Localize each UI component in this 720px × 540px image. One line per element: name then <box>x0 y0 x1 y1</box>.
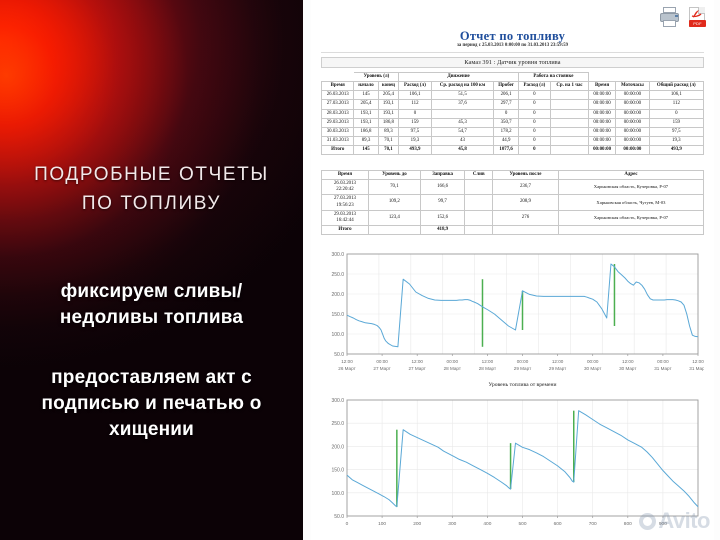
table-cell: 0 <box>518 127 550 136</box>
promo-bullet-1-line-2: недоливы топлива <box>0 305 303 331</box>
x-axis-tick-label-date: 31 Март <box>689 366 704 371</box>
promo-bullet-1-line-1: фиксируем сливы/ <box>0 279 303 305</box>
column-header-row: ВремяначалоконецРасход (л)Ср. расход на … <box>322 82 704 91</box>
table-total-row: Итого418,9 <box>322 225 704 234</box>
table-cell <box>465 180 493 195</box>
title-divider <box>321 52 704 53</box>
table-cell: 350,7 <box>494 118 518 127</box>
x-axis-tick-label: 100 <box>378 521 386 527</box>
table-cell: 112 <box>649 100 703 109</box>
chart-canvas: 50.0100.0150.0200.0250.0300.012:0026 Мар… <box>321 248 704 388</box>
table-cell: 109,2 <box>368 195 420 210</box>
y-axis-tick-label: 100.0 <box>331 332 344 338</box>
x-axis-tick-label-time: 12:00 <box>622 359 634 364</box>
table-total-cell: 1077,6 <box>494 146 518 155</box>
column-header-cell: Ср. расход на 100 км <box>431 82 494 91</box>
table-cell: 37,6 <box>431 100 494 109</box>
y-axis-tick-label: 100.0 <box>331 491 344 497</box>
table-total-cell <box>558 225 703 234</box>
table-cell: 0 <box>518 100 550 109</box>
table-cell: 236,7 <box>493 180 559 195</box>
refuel-events-table: ВремяУровень доЗаправкаСливУровень после… <box>321 170 704 235</box>
x-axis-tick-label-time: 00:00 <box>447 359 459 364</box>
table-row: 27.03.2013205,4193,111237,6297,7000:00:0… <box>322 100 704 109</box>
promo-bullet-2-line-3: хищении <box>0 417 303 443</box>
y-axis-tick-label: 150.0 <box>331 312 344 318</box>
table-cell: 70,1 <box>378 136 399 145</box>
x-axis-tick-label-date: 26 Март <box>338 366 356 371</box>
x-axis-tick-label-time: 12:00 <box>482 359 494 364</box>
report-page: PDF Отчет по топливу за период с 25.03.2… <box>311 0 714 540</box>
table-cell: 0 <box>518 118 550 127</box>
table-cell: 97,5 <box>649 127 703 136</box>
group-header-cell: Уровень (л) <box>354 73 399 82</box>
x-axis-tick-label-date: 28 Март <box>444 366 462 371</box>
x-axis-tick-label: 400 <box>483 521 491 527</box>
x-axis-tick-label: 700 <box>589 521 597 527</box>
table-cell: 205,4 <box>378 91 399 100</box>
table-total-cell: 0 <box>518 146 550 155</box>
table-row: 29.03.201316:42:44123,4152,6276Харьковск… <box>322 210 704 225</box>
report-document-panel: PDF Отчет по топливу за период с 25.03.2… <box>303 0 720 540</box>
table-cell <box>551 118 589 127</box>
table-cell: 276 <box>493 210 559 225</box>
table-total-cell: 00:00:00 <box>616 146 649 155</box>
column-header-cell: Время <box>588 82 615 91</box>
table-total-cell: 493,9 <box>649 146 703 155</box>
table-cell: 54,7 <box>431 127 494 136</box>
table-cell: 00:00:00 <box>616 127 649 136</box>
table-cell: 00:00:00 <box>588 127 615 136</box>
group-header-row: Уровень (л)ДвижениеРабота на стоянке <box>322 73 704 82</box>
table-cell: 186,8 <box>354 127 378 136</box>
x-axis-tick-label-date: 29 Март <box>514 366 532 371</box>
table-cell: 0 <box>518 109 550 118</box>
y-axis-tick-label: 50.0 <box>334 352 344 358</box>
table-total-cell <box>368 225 420 234</box>
promo-headline-line-2: ПО ТОПЛИВУ <box>0 189 303 218</box>
column-header-cell: Моточасы <box>616 82 649 91</box>
column-header-cell: Уровень до <box>368 171 420 180</box>
daily-fuel-table: Уровень (л)ДвижениеРабота на стоянке Вре… <box>321 72 704 155</box>
table-cell: 297,7 <box>494 100 518 109</box>
table-cell <box>551 100 589 109</box>
table-cell <box>551 91 589 100</box>
table-cell: 159 <box>649 118 703 127</box>
column-header-cell: Общий расход (л) <box>649 82 703 91</box>
column-header-cell: Время <box>322 82 354 91</box>
table-cell: 89,3 <box>354 136 378 145</box>
table-cell: 00:00:00 <box>588 100 615 109</box>
table-cell: 178,2 <box>494 127 518 136</box>
x-axis-tick-label: 200 <box>413 521 421 527</box>
fuel-level-smoothed-chart: 50.0100.0150.0200.0250.0300.001002003004… <box>321 394 704 534</box>
table-total-cell <box>551 146 589 155</box>
pdf-badge-label: PDF <box>689 20 706 27</box>
x-axis-tick-label-time: 12:00 <box>552 359 564 364</box>
table-row: 29.03.2013193,1186,815945,3350,7000:00:0… <box>322 118 704 127</box>
page-title: Отчет по топливу <box>311 29 714 44</box>
table-cell: 00:00:00 <box>588 136 615 145</box>
table-cell: 00:00:00 <box>616 136 649 145</box>
column-header-cell: начало <box>354 82 378 91</box>
table-cell: 43 <box>431 136 494 145</box>
group-header-cell: Движение <box>399 73 518 82</box>
table-cell: 44,9 <box>494 136 518 145</box>
x-axis-tick-label-time: 12:00 <box>692 359 704 364</box>
table-cell: 106,1 <box>399 91 431 100</box>
promo-bullet-2-line-2: подписью и печатью о <box>0 391 303 417</box>
table-cell <box>431 109 494 118</box>
table-cell: 00:00:00 <box>616 118 649 127</box>
printer-icon[interactable] <box>659 6 680 28</box>
x-axis-tick-label-date: 27 Март <box>373 366 391 371</box>
table-cell: 186,8 <box>378 118 399 127</box>
x-axis-tick-label-time: 00:00 <box>587 359 599 364</box>
table-total-cell: 00:00:00 <box>588 146 615 155</box>
table-cell: 30.03.2013 <box>322 127 354 136</box>
daily-fuel-table-body: 26.03.2013145205,4106,151,5206,1000:00:0… <box>322 91 704 155</box>
table-cell: 145 <box>354 91 378 100</box>
table-cell: Харьковская область, Кучеровка, Р-07 <box>558 210 703 225</box>
table-total-row: Итого14570,1493,945,81077,6000:00:0000:0… <box>322 146 704 155</box>
y-axis-tick-label: 150.0 <box>331 468 344 474</box>
table-cell: 166,6 <box>420 180 465 195</box>
y-axis-tick-label: 250.0 <box>331 272 344 278</box>
x-axis-tick-label-date: 28 Март <box>479 366 497 371</box>
table-cell: 112 <box>399 100 431 109</box>
column-header-cell: Слив <box>465 171 493 180</box>
table-cell: 193,1 <box>354 109 378 118</box>
table-row: 31.03.201389,370,119,34344,9000:00:0000:… <box>322 136 704 145</box>
fuel-level-vs-time-chart: 50.0100.0150.0200.0250.0300.012:0026 Мар… <box>321 248 704 388</box>
event-time: 19:56:23 <box>323 203 367 209</box>
table-cell: 00:00:00 <box>588 118 615 127</box>
x-axis-tick-label-date: 30 Март <box>619 366 637 371</box>
table-row: 27.03.201319:56:23109,299,7208,9Харьковс… <box>322 195 704 210</box>
table-total-cell <box>465 225 493 234</box>
y-axis-tick-label: 300.0 <box>331 398 344 404</box>
table-cell: 26.03.201322:20:42 <box>322 180 369 195</box>
table-cell: 19,3 <box>649 136 703 145</box>
x-axis-tick-label-date: 27 Март <box>409 366 427 371</box>
report-period-subtitle: за период с 25.03.2013 0:00:00 по 31.03.… <box>311 43 714 48</box>
table-cell: 193,1 <box>378 109 399 118</box>
x-axis-tick-label-time: 12:00 <box>411 359 423 364</box>
table-cell: 00:00:00 <box>616 109 649 118</box>
promo-texture-overlay <box>0 0 303 540</box>
table-cell: 152,6 <box>420 210 465 225</box>
event-time: 16:42:44 <box>323 218 367 224</box>
column-header-cell: Адрес <box>558 171 703 180</box>
table-cell: 00:00:00 <box>616 100 649 109</box>
group-header-spacer <box>649 73 703 82</box>
table-cell: 0 <box>494 109 518 118</box>
x-axis-tick-label-date: 30 Март <box>584 366 602 371</box>
table-cell: 97,5 <box>399 127 431 136</box>
x-axis-tick-label: 300 <box>448 521 456 527</box>
x-axis-tick-label-time: 00:00 <box>376 359 388 364</box>
y-axis-tick-label: 50.0 <box>334 514 344 520</box>
table-total-cell: 418,9 <box>420 225 465 234</box>
pdf-swoosh-glyph <box>691 9 702 20</box>
device-header-band: Камаз 391 : Датчик уровня топлива <box>321 57 704 68</box>
promo-headline-line-1: ПОДРОБНЫЕ ОТЧЕТЫ <box>0 160 303 189</box>
table-cell <box>465 210 493 225</box>
table-total-cell: Итого <box>322 225 369 234</box>
group-header-spacer <box>588 73 615 82</box>
table-total-cell: 493,9 <box>399 146 431 155</box>
promo-bullet-1: фиксируем сливы/ недоливы топлива <box>0 279 303 331</box>
pdf-icon[interactable]: PDF <box>687 6 708 28</box>
table-cell: 27.03.201319:56:23 <box>322 195 369 210</box>
table-cell: 00:00:00 <box>588 109 615 118</box>
table-cell: 29.03.2013 <box>322 118 354 127</box>
column-header-cell: Расход (л) <box>518 82 550 91</box>
table-total-cell: 70,1 <box>378 146 399 155</box>
table-cell: 26.03.2013 <box>322 91 354 100</box>
table-cell: 70,1 <box>368 180 420 195</box>
x-axis-tick-label-date: 31 Март <box>654 366 672 371</box>
group-header-cell: Работа на стоянке <box>518 73 588 82</box>
y-axis-tick-label: 200.0 <box>331 444 344 450</box>
x-axis-tick-label: 800 <box>624 521 632 527</box>
table-total-cell: Итого <box>322 146 354 155</box>
promo-headline: ПОДРОБНЫЕ ОТЧЕТЫ ПО ТОПЛИВУ <box>0 160 303 218</box>
x-axis-title: Уровень топлива от времени <box>489 382 557 388</box>
table-cell: 193,1 <box>354 118 378 127</box>
table-cell: 0 <box>518 91 550 100</box>
table-row: 26.03.201322:20:4270,1166,6236,7Харьковс… <box>322 180 704 195</box>
chart-canvas: 50.0100.0150.0200.0250.0300.001002003004… <box>321 394 704 534</box>
table-cell: 0 <box>518 136 550 145</box>
table-total-cell: 145 <box>354 146 378 155</box>
x-axis-tick-label: 500 <box>518 521 526 527</box>
table-cell: 89,3 <box>378 127 399 136</box>
table-cell: 45,3 <box>431 118 494 127</box>
promo-bullet-2: предоставляем акт с подписью и печатью о… <box>0 365 303 443</box>
table-cell: 206,1 <box>494 91 518 100</box>
table-cell: 159 <box>399 118 431 127</box>
group-header-spacer <box>616 73 649 82</box>
table-cell: 51,5 <box>431 91 494 100</box>
table-total-cell: 45,8 <box>431 146 494 155</box>
table-cell <box>551 109 589 118</box>
table-cell: 99,7 <box>420 195 465 210</box>
table-cell <box>551 127 589 136</box>
column-header-cell: Ср. на 1 час <box>551 82 589 91</box>
column-header-cell: Заправка <box>420 171 465 180</box>
table-cell: 00:00:00 <box>588 91 615 100</box>
column-header-cell: конец <box>378 82 399 91</box>
column-header-cell: Время <box>322 171 369 180</box>
table-cell: 208,9 <box>493 195 559 210</box>
table-cell: 205,4 <box>354 100 378 109</box>
promo-panel: ПОДРОБНЫЕ ОТЧЕТЫ ПО ТОПЛИВУ фиксируем сл… <box>0 0 303 540</box>
table-cell: 28.03.2013 <box>322 109 354 118</box>
column-header-row: ВремяУровень доЗаправкаСливУровень после… <box>322 171 704 180</box>
x-axis-tick-label-time: 12:00 <box>341 359 353 364</box>
table-cell: 106,1 <box>649 91 703 100</box>
x-axis-tick-label-time: 00:00 <box>517 359 529 364</box>
table-cell <box>465 195 493 210</box>
table-row: 26.03.2013145205,4106,151,5206,1000:00:0… <box>322 91 704 100</box>
table-cell: 193,1 <box>378 100 399 109</box>
table-cell: 27.03.2013 <box>322 100 354 109</box>
refuel-events-table-head: ВремяУровень доЗаправкаСливУровень после… <box>322 171 704 180</box>
report-toolbar: PDF <box>659 6 708 28</box>
table-total-cell <box>493 225 559 234</box>
column-header-cell: Расход (л) <box>399 82 431 91</box>
table-cell: 31.03.2013 <box>322 136 354 145</box>
column-header-cell: Пробег <box>494 82 518 91</box>
y-axis-tick-label: 250.0 <box>331 421 344 427</box>
x-axis-tick-label-date: 29 Март <box>549 366 567 371</box>
refuel-events-table-body: 26.03.201322:20:4270,1166,6236,7Харьковс… <box>322 180 704 235</box>
table-cell <box>551 136 589 145</box>
table-cell: 123,4 <box>368 210 420 225</box>
y-axis-tick-label: 300.0 <box>331 252 344 258</box>
table-cell: 19,3 <box>399 136 431 145</box>
group-header-spacer <box>322 73 354 82</box>
table-row: 30.03.2013186,889,397,554,7178,2000:00:0… <box>322 127 704 136</box>
table-cell: 29.03.201316:42:44 <box>322 210 369 225</box>
x-axis-tick-label: 600 <box>554 521 562 527</box>
table-row: 28.03.2013193,1193,100000:00:0000:00:000 <box>322 109 704 118</box>
x-axis-tick-label-time: 00:00 <box>657 359 669 364</box>
promo-bullet-2-line-1: предоставляем акт с <box>0 365 303 391</box>
table-cell: 0 <box>399 109 431 118</box>
y-axis-tick-label: 200.0 <box>331 292 344 298</box>
table-cell: Харьковская область, Чугуев, М-03 <box>558 195 703 210</box>
table-cell: 0 <box>649 109 703 118</box>
table-cell: 00:00:00 <box>616 91 649 100</box>
event-time: 22:20:42 <box>323 187 367 193</box>
column-header-cell: Уровень после <box>493 171 559 180</box>
x-axis-tick-label: 0 <box>346 521 349 527</box>
x-axis-tick-label: 900 <box>659 521 667 527</box>
table-cell: Харьковская область, Кучеровка, Р-07 <box>558 180 703 195</box>
daily-fuel-table-head: Уровень (л)ДвижениеРабота на стоянке Вре… <box>322 73 704 91</box>
